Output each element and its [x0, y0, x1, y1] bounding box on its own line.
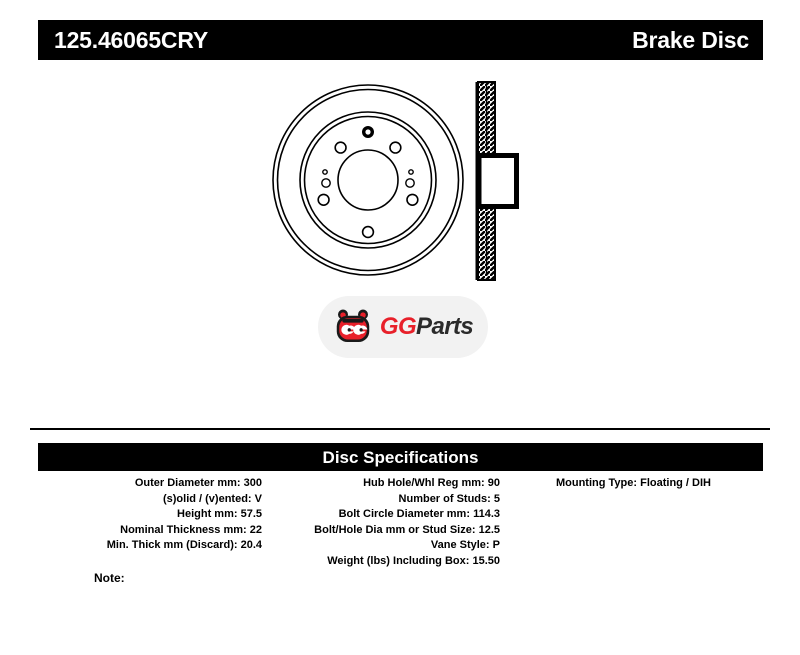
outer-edge-band: [476, 82, 480, 280]
spec-value: 12.5: [479, 524, 500, 536]
spec-row: Number of Studs: 5: [266, 492, 500, 508]
spec-sheet: 125.46065CRY Brake Disc: [0, 0, 800, 655]
spec-label: Number of Studs:: [399, 493, 491, 505]
spec-value: Floating / DIH: [640, 477, 711, 489]
spec-value: 5: [494, 493, 500, 505]
hat-section: [478, 154, 518, 208]
spec-row: (s)olid / (v)ented: V: [38, 492, 262, 508]
stud-holes: [318, 142, 418, 237]
note-value: [125, 571, 129, 585]
spec-label: Vane Style:: [431, 539, 490, 551]
lower-friction-ring: [478, 208, 495, 280]
spec-value: V: [255, 493, 262, 505]
note-label: Note:: [94, 571, 125, 585]
spec-value: 90: [488, 477, 500, 489]
spec-column-right: Mounting Type: Floating / DIH: [504, 476, 763, 569]
spec-label: Min. Thick mm (Discard):: [107, 539, 238, 551]
brake-disc-cross-section-view: [470, 76, 534, 286]
spec-divider-rule: [30, 428, 770, 430]
spec-label: Height mm:: [177, 508, 238, 520]
spec-row: Hub Hole/Whl Reg mm: 90: [266, 476, 500, 492]
spec-value: 20.4: [241, 539, 262, 551]
spec-row: Mounting Type: Floating / DIH: [504, 476, 763, 492]
brand-wordmark: GGParts: [380, 315, 473, 339]
spec-row: Weight (lbs) Including Box: 15.50: [266, 554, 500, 570]
spec-row: Bolt/Hole Dia mm or Stud Size: 12.5: [266, 523, 500, 539]
header-bar: 125.46065CRY Brake Disc: [38, 20, 763, 60]
brand-logo: GGParts: [318, 296, 488, 358]
note-block: Note:: [94, 570, 129, 586]
spec-row: Vane Style: P: [266, 538, 500, 554]
spec-title-bar: Disc Specifications: [38, 443, 763, 471]
spec-section-title: Disc Specifications: [323, 449, 479, 466]
brake-disc-front-view: [270, 80, 470, 280]
spec-label: Mounting Type:: [556, 477, 637, 489]
spec-column-middle: Hub Hole/Whl Reg mm: 90 Number of Studs:…: [266, 476, 504, 569]
spec-value: 15.50: [472, 555, 500, 567]
spec-column-left: Outer Diameter mm: 300 (s)olid / (v)ente…: [38, 476, 266, 569]
locating-hole: [362, 126, 374, 138]
spec-row: Nominal Thickness mm: 22: [38, 523, 262, 539]
spec-value: 22: [250, 524, 262, 536]
upper-friction-ring: [478, 82, 495, 154]
spec-value: P: [493, 539, 500, 551]
spec-label: Weight (lbs) Including Box:: [327, 555, 469, 567]
spec-label: Outer Diameter mm:: [135, 477, 241, 489]
spec-label: Hub Hole/Whl Reg mm:: [363, 477, 485, 489]
spec-value: 114.3: [473, 508, 500, 520]
spec-row: Height mm: 57.5: [38, 507, 262, 523]
spec-row: Outer Diameter mm: 300: [38, 476, 262, 492]
spec-label: Bolt Circle Diameter mm:: [339, 508, 470, 520]
balance-holes: [322, 170, 414, 187]
spec-label: Bolt/Hole Dia mm or Stud Size:: [314, 524, 475, 536]
brand-name-secondary: Parts: [416, 313, 473, 340]
spec-value: 57.5: [241, 508, 262, 520]
ggparts-mascot-icon: [333, 307, 373, 347]
drawing-area: GGParts: [0, 62, 800, 422]
part-number: 125.46065CRY: [54, 29, 208, 52]
spec-row: Min. Thick mm (Discard): 20.4: [38, 538, 262, 554]
spec-row: Bolt Circle Diameter mm: 114.3: [266, 507, 500, 523]
spec-columns: Outer Diameter mm: 300 (s)olid / (v)ente…: [38, 476, 763, 569]
page-title: Brake Disc: [632, 29, 749, 52]
spec-value: 300: [244, 477, 262, 489]
spec-label: Nominal Thickness mm:: [120, 524, 247, 536]
brand-name-primary: GG: [380, 313, 416, 340]
spec-label: (s)olid / (v)ented:: [163, 493, 252, 505]
